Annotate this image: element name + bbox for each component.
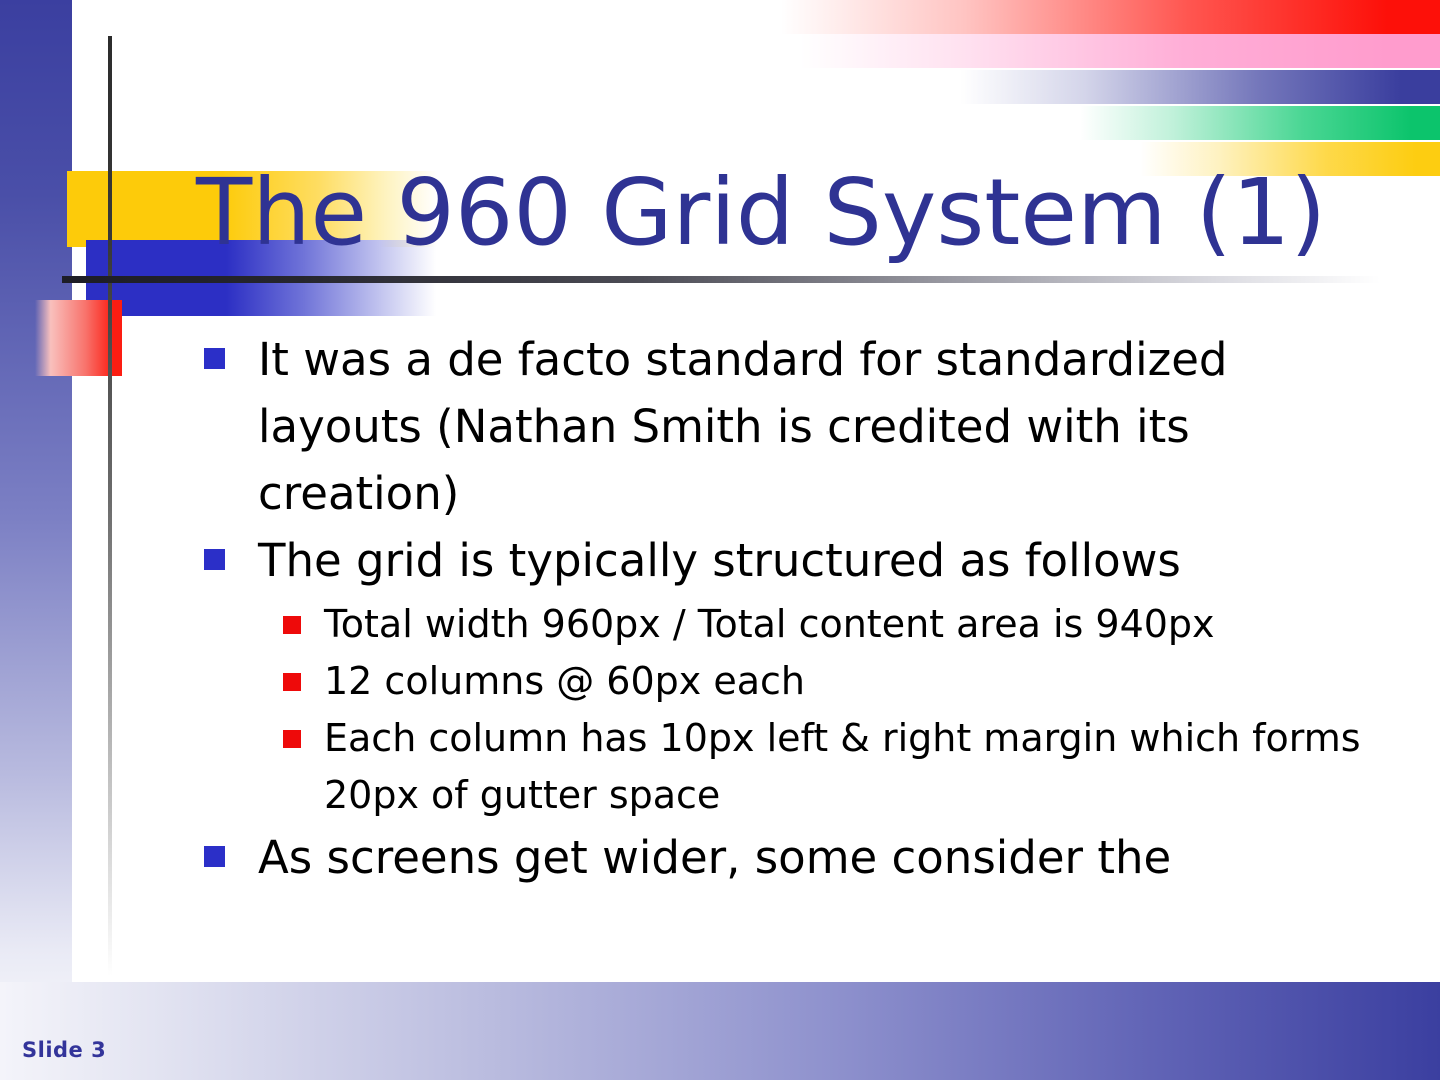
bullet-square-blue-icon: [204, 348, 225, 369]
bullet-item-level1: As screens get wider, some consider the: [196, 824, 1396, 891]
bullet-text: 12 columns @ 60px each: [324, 659, 805, 703]
slide-canvas: The 960 Grid System (1) It was a de fact…: [0, 0, 1440, 1080]
bullet-square-red-icon: [283, 616, 301, 634]
bullet-item-level2: Total width 960px / Total content area i…: [196, 596, 1396, 653]
decorative-vertical-line: [108, 36, 112, 976]
left-accent-band: [0, 0, 72, 1080]
sub-bullet-group: Total width 960px / Total content area i…: [196, 596, 1396, 824]
title-underline-rule: [62, 276, 1380, 283]
bullet-square-red-icon: [283, 730, 301, 748]
bullet-text: As screens get wider, some consider the: [258, 831, 1171, 884]
bullet-text: It was a de facto standard for standardi…: [258, 333, 1227, 520]
top-accent-bar-green: [1080, 106, 1440, 140]
bullet-item-level1: It was a de facto standard for standardi…: [196, 326, 1396, 527]
bottom-accent-band: [0, 982, 1440, 1080]
bullet-square-blue-icon: [204, 846, 225, 867]
bullet-square-red-icon: [283, 673, 301, 691]
top-accent-bar-red: [780, 0, 1440, 34]
top-accent-bar-blue: [960, 70, 1440, 104]
bullet-item-level1: The grid is typically structured as foll…: [196, 527, 1396, 594]
slide-number-label: Slide 3: [22, 1038, 106, 1062]
bullet-item-level2: 12 columns @ 60px each: [196, 653, 1396, 710]
slide-body: It was a de facto standard for standardi…: [196, 326, 1396, 891]
bullet-text: Each column has 10px left & right margin…: [324, 716, 1361, 817]
bullet-square-blue-icon: [204, 549, 225, 570]
slide-title: The 960 Grid System (1): [196, 158, 1356, 268]
bullet-text: Total width 960px / Total content area i…: [324, 602, 1215, 646]
top-accent-bar-pink: [800, 34, 1440, 68]
bullet-text: The grid is typically structured as foll…: [258, 534, 1181, 587]
bullet-item-level2: Each column has 10px left & right margin…: [196, 710, 1396, 824]
